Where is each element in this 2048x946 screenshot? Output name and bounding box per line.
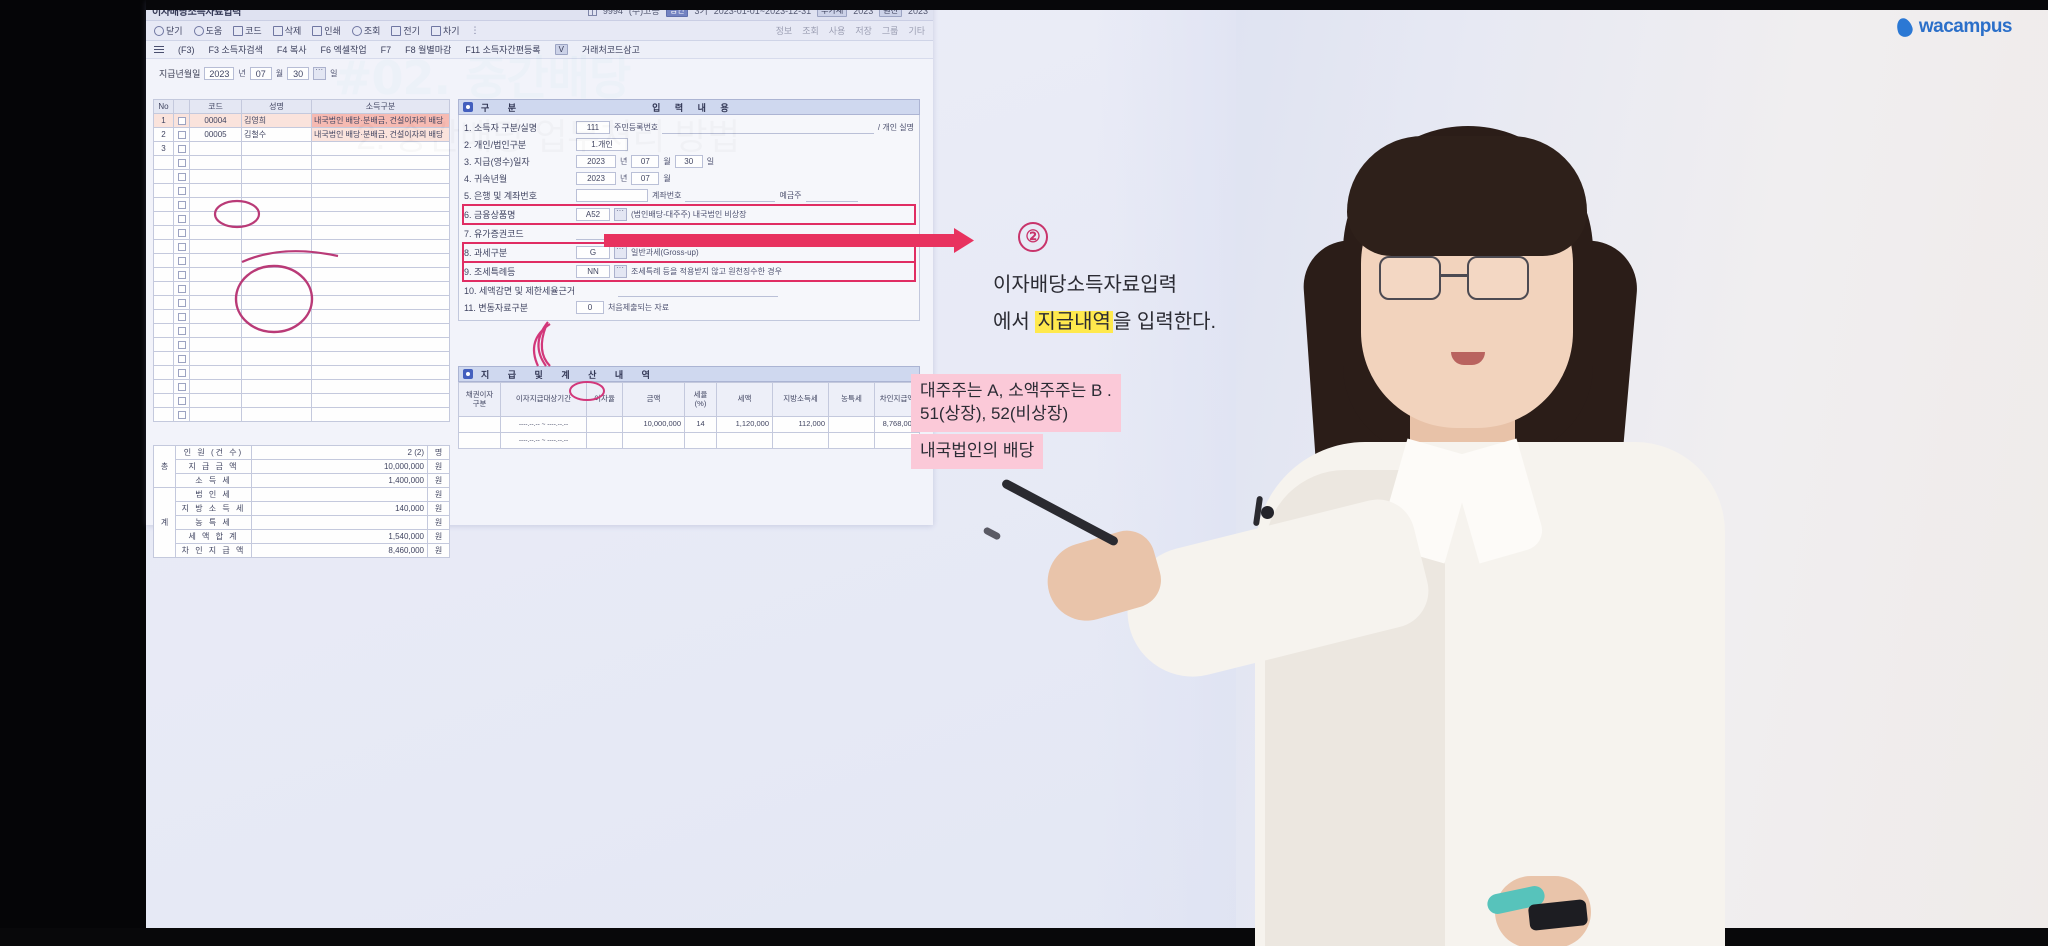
menu-item-f7[interactable]: F7 xyxy=(381,45,392,55)
th-tax-rate: 세율 (%) xyxy=(685,383,717,417)
payment-month-input[interactable]: 07 xyxy=(250,67,272,80)
form-row-person-corp: 2. 개인/법인구분 1.개인 xyxy=(464,136,914,153)
toolbar-right-item[interactable]: 기타 xyxy=(908,24,925,37)
toolbar-button-next[interactable]: 차기 xyxy=(431,24,460,37)
row-checkbox[interactable] xyxy=(178,383,186,391)
summary-group-total: 총 xyxy=(154,446,176,488)
detail-form-fields: 1. 소득자 구분/실명 111 주민등록번호 / 개인 실명 2. 개인/법인… xyxy=(458,115,920,321)
cell-bond-type xyxy=(459,417,501,433)
lookup-icon[interactable] xyxy=(614,208,627,221)
account-number-input[interactable] xyxy=(685,189,775,202)
table-row-empty[interactable] xyxy=(154,352,450,366)
calc-section-header: 지 급 및 계 산 내 역 xyxy=(458,366,920,382)
table-row-empty[interactable] xyxy=(154,156,450,170)
tax-reduction-basis-input[interactable] xyxy=(618,284,778,297)
income-earner-table: No 코드 성명 소득구분 1 00004 xyxy=(153,99,450,422)
table-header-row: No 코드 성명 소득구분 xyxy=(154,100,450,114)
table-row[interactable]: 2 00005 김철수 내국법인 배당·분배금, 건설이자의 배당 xyxy=(154,128,450,142)
attr-month-unit: 월 xyxy=(663,173,670,184)
person-corp-input[interactable]: 1.개인 xyxy=(576,138,628,151)
row-checkbox[interactable] xyxy=(178,411,186,419)
menu-item-partner-code[interactable]: 거래처코드삼고 xyxy=(582,43,640,56)
table-row[interactable]: 3 xyxy=(154,142,450,156)
menu-f3-key: (F3) xyxy=(178,45,195,55)
cell-no: 1 xyxy=(154,114,174,128)
account-holder-input[interactable] xyxy=(806,189,858,202)
row-label: 과세구분 xyxy=(474,248,507,258)
detail-col-header-left: 구 분 xyxy=(481,101,524,114)
row-checkbox[interactable] xyxy=(178,397,186,405)
calendar-icon[interactable] xyxy=(313,67,326,80)
summary-unit: 명 xyxy=(428,446,450,460)
account-holder-label: 예금주 xyxy=(779,190,801,201)
row-label: 변동자료구분 xyxy=(478,303,528,313)
table-row-empty[interactable] xyxy=(154,226,450,240)
row-checkbox[interactable] xyxy=(178,117,186,125)
table-row[interactable]: 1 00004 김영희 내국법인 배당·분배금, 건설이자의 배당 xyxy=(154,114,450,128)
th-no: No xyxy=(154,100,174,114)
financial-product-desc: (법인배당-대주주) 내국법인 비상장 xyxy=(631,209,746,220)
cell-amount: 10,000,000 xyxy=(623,417,685,433)
form-label: 3. 지급(영수)일자 xyxy=(464,155,572,168)
row-checkbox[interactable] xyxy=(178,313,186,321)
securities-code-input[interactable] xyxy=(576,227,696,240)
row-no: 1 xyxy=(464,123,469,133)
table-row-empty[interactable] xyxy=(154,338,450,352)
th-interest-rate: 이자율 xyxy=(587,383,623,417)
summary-group-sum: 계 xyxy=(154,488,176,558)
summary-label: 지 방 소 득 세 xyxy=(176,502,252,516)
row-label: 귀속년월 xyxy=(474,174,507,184)
top-black-bar xyxy=(146,0,2048,10)
form-label: 5. 은행 및 계좌번호 xyxy=(464,189,572,202)
toolbar-button-search[interactable]: 조회 xyxy=(352,24,381,37)
row-label: 개인/법인구분 xyxy=(474,140,526,150)
payment-date-row: 지급년월일 2023 년 07 월 30 일 xyxy=(159,67,926,80)
note-line-1: 이자배당소득자료입력 xyxy=(993,268,1177,297)
cell-name: 김철수 xyxy=(242,128,312,142)
row-no: 3 xyxy=(464,157,469,167)
glasses-left-lens xyxy=(1379,256,1441,300)
toolbar-right-item[interactable]: 조회 xyxy=(802,24,819,37)
toolbar-label: 삭제 xyxy=(285,24,302,37)
cell-tax-rate: 14 xyxy=(685,417,717,433)
note-line-2: 에서 지급내역을 입력한다. xyxy=(993,305,1216,334)
pay-day-unit: 일 xyxy=(707,156,714,167)
cell-tax xyxy=(717,433,773,449)
row-checkbox[interactable] xyxy=(178,285,186,293)
toolbar-button-print[interactable]: 인쇄 xyxy=(312,24,341,37)
row-checkbox[interactable] xyxy=(178,187,186,195)
form-row-tax-reduction-basis: 10. 세액감면 및 제한세율근거 xyxy=(464,282,914,299)
toolbar-overflow-icon[interactable]: ⋮ xyxy=(471,25,479,36)
cell-income-type: 내국법인 배당·분배금, 건설이자의 배당 xyxy=(312,114,450,128)
form-row-bank-account: 5. 은행 및 계좌번호 계좌번호 예금주 xyxy=(464,187,914,204)
summary-row: 계 법 인 세 원 xyxy=(154,488,450,502)
cell-period: ----.--.-- ~ ----.--.-- xyxy=(501,433,587,449)
search-icon xyxy=(352,26,362,36)
th-tax: 세액 xyxy=(717,383,773,417)
attr-year-input[interactable]: 2023 xyxy=(576,172,616,185)
pay-year-input[interactable]: 2023 xyxy=(576,155,616,168)
detail-col-header-right: 입 력 내 용 xyxy=(652,101,735,114)
pink-note-1-line-2: 51(상장), 52(비상장) xyxy=(920,403,1112,426)
toolbar-label: 전기 xyxy=(403,24,420,37)
form-label: 6. 금융상품명 xyxy=(464,208,572,221)
row-checkbox[interactable] xyxy=(178,257,186,265)
cell-period: ----.--.-- ~ ----.--.-- xyxy=(501,417,587,433)
income-type-desc: 주민등록번호 xyxy=(614,122,658,133)
table-row-empty[interactable] xyxy=(154,324,450,338)
th-amount: 금액 xyxy=(623,383,685,417)
summary-label: 차 인 지 급 액 xyxy=(176,544,252,558)
row-no: 11 xyxy=(464,303,473,313)
cell-name: 김영희 xyxy=(242,114,312,128)
summary-label: 법 인 세 xyxy=(176,488,252,502)
form-label: 2. 개인/법인구분 xyxy=(464,138,572,151)
financial-product-code-input[interactable]: A52 xyxy=(576,208,610,221)
th-check xyxy=(174,100,190,114)
form-row-change-category: 11. 변동자료구분 0 처음제출되는 자료 xyxy=(464,299,914,316)
account-number-label: 계좌번호 xyxy=(652,190,681,201)
erp-body: 지급년월일 2023 년 07 월 30 일 No xyxy=(146,59,933,525)
attr-year-unit: 년 xyxy=(620,173,627,184)
table-row-empty[interactable] xyxy=(154,184,450,198)
toolbar-label: 코드 xyxy=(245,24,262,37)
toolbar-right-item[interactable]: 그룹 xyxy=(882,24,899,37)
table-row-empty[interactable] xyxy=(154,170,450,184)
table-row-empty[interactable] xyxy=(154,394,450,408)
pay-year-unit: 년 xyxy=(620,156,627,167)
th-farm-tax: 농특세 xyxy=(829,383,875,417)
erp-menubar: (F3) F3 소득자검색 F4 복사 F6 엑셀작업 F7 F8 월별마감 F… xyxy=(146,41,933,59)
tax-category-desc: 일반과세(Gross-up) xyxy=(631,247,699,258)
summary-row: 지 방 소 득 세 140,000 원 xyxy=(154,502,450,516)
toolbar-right-item[interactable]: 저장 xyxy=(855,24,872,37)
pay-month-unit: 월 xyxy=(663,156,670,167)
menu-v-badge: V xyxy=(555,44,568,55)
summary-unit: 원 xyxy=(428,474,450,488)
left-black-border xyxy=(0,0,146,946)
menu-item-excel[interactable]: F6 엑셀작업 xyxy=(320,43,366,56)
summary-label: 소 득 세 xyxy=(176,474,252,488)
summary-unit: 원 xyxy=(428,502,450,516)
menu-item-monthly-close[interactable]: F8 월별마감 xyxy=(405,43,451,56)
summary-label: 지 급 금 액 xyxy=(176,460,252,474)
cell-check[interactable] xyxy=(174,128,190,142)
table-row-empty[interactable] xyxy=(154,296,450,310)
toolbar-label: 도움 xyxy=(206,24,223,37)
lookup-icon[interactable] xyxy=(614,246,627,259)
cell-tax-rate xyxy=(685,433,717,449)
form-row-tax-special: 9. 조세특례등 NN 조세특례 등을 적용받지 않고 원천징수한 경우 xyxy=(464,263,914,280)
row-label: 조세특례등 xyxy=(474,267,515,277)
erp-window: 이자배당소득자료입력 9994 (주)고승 법인 3기 2023-01-01~2… xyxy=(146,0,933,525)
water-drop-icon xyxy=(1894,16,1914,39)
payment-day-unit: 일 xyxy=(330,68,337,79)
cell-rate xyxy=(587,417,623,433)
calc-row[interactable]: ----.--.-- ~ ----.--.-- xyxy=(459,433,920,449)
screen-stage: #02. 중간배당 2. 중간배당 업무처리 방법 이자배당소득자료입력 999… xyxy=(0,0,2048,946)
form-label: 9. 조세특례등 xyxy=(464,265,572,278)
payment-day-input[interactable]: 30 xyxy=(287,67,309,80)
step-number-annotation: ② xyxy=(1018,222,1048,252)
row-no: 6 xyxy=(464,210,469,220)
microphone-icon xyxy=(1261,506,1274,519)
menu-item-copy[interactable]: F4 복사 xyxy=(277,43,307,56)
cell-code: 00005 xyxy=(190,128,242,142)
form-row-tax-category: 8. 과세구분 G 일반과세(Gross-up) xyxy=(464,244,914,261)
row-checkbox[interactable] xyxy=(178,131,186,139)
row-checkbox[interactable] xyxy=(178,201,186,209)
note-highlight: 지급내역 xyxy=(1035,311,1113,333)
lookup-icon[interactable] xyxy=(614,265,627,278)
cell-check[interactable] xyxy=(174,114,190,128)
tax-category-code-input[interactable]: G xyxy=(576,246,610,259)
summary-value xyxy=(252,488,428,502)
projection-board: #02. 중간배당 2. 중간배당 업무처리 방법 이자배당소득자료입력 999… xyxy=(146,0,1236,946)
printer-icon xyxy=(312,26,322,36)
ink-arrow-head xyxy=(954,228,974,253)
row-checkbox[interactable] xyxy=(178,271,186,279)
calc-section-panel: 지 급 및 계 산 내 역 채권이자 구분 이자지급대상기간 이자율 xyxy=(458,366,920,449)
th-income-type: 소득구분 xyxy=(312,100,450,114)
form-label: 7. 유가증권코드 xyxy=(464,227,572,240)
help-icon xyxy=(194,26,204,36)
summary-row: 소 득 세 1,400,000 원 xyxy=(154,474,450,488)
summary-label: 인 원 (건 수) xyxy=(176,446,252,460)
summary-row: 농 특 세 원 xyxy=(154,516,450,530)
calc-table: 채권이자 구분 이자지급대상기간 이자율 금액 세율 (%) 세액 지방소득세 … xyxy=(458,382,920,449)
summary-value: 8,460,000 xyxy=(252,544,428,558)
toolbar-right-group: 정보 조회 사용 저장 그룹 기타 xyxy=(776,24,925,37)
row-checkbox[interactable] xyxy=(178,145,186,153)
row-checkbox[interactable] xyxy=(178,159,186,167)
table-row-empty[interactable] xyxy=(154,268,450,282)
income-earner-grid-panel: No 코드 성명 소득구분 1 00004 xyxy=(153,99,450,422)
form-label: 1. 소득자 구분/실명 xyxy=(464,121,572,134)
summary-panel: 총 인 원 (건 수) 2 (2) 명 지 급 금 액 10,000,000 원 xyxy=(153,445,450,558)
form-row-attribution-date: 4. 귀속년월 2023 년 07 월 xyxy=(464,170,914,187)
summary-unit: 원 xyxy=(428,488,450,502)
summary-label: 세 액 합 계 xyxy=(176,530,252,544)
summary-row: 세 액 합 계 1,540,000 원 xyxy=(154,530,450,544)
form-label: 11. 변동자료구분 xyxy=(464,301,572,314)
glasses-right-lens xyxy=(1467,256,1529,300)
table-row-empty[interactable] xyxy=(154,282,450,296)
table-row-empty[interactable] xyxy=(154,198,450,212)
pink-note-1-line-1: 대주주는 A, 소액주주는 B . xyxy=(920,380,1112,403)
bank-input[interactable] xyxy=(576,189,648,202)
row-label: 세액감면 및 제한세율근거 xyxy=(479,286,575,296)
row-no: 5 xyxy=(464,191,469,201)
menu-item-simple-register[interactable]: F11 소득자간편등록 xyxy=(465,43,540,56)
cell-name xyxy=(242,142,312,156)
toolbar-button-help[interactable]: 도움 xyxy=(194,24,223,37)
resident-number-input[interactable] xyxy=(662,121,874,134)
summary-unit: 원 xyxy=(428,460,450,474)
next-icon xyxy=(431,26,441,36)
detail-form-panel: 구 분 입 력 내 용 1. 소득자 구분/실명 111 주민등록번호 / 개인… xyxy=(458,99,920,321)
erp-toolbar: 닫기 도움 코드 삭제 인쇄 조회 전기 차기 ⋮ 정보 조회 사용 저장 그룹… xyxy=(146,21,933,41)
toolbar-button-delete[interactable]: 삭제 xyxy=(273,24,302,37)
th-bond-interest-type: 채권이자 구분 xyxy=(459,383,501,417)
row-label: 소득자 구분/실명 xyxy=(474,123,537,133)
form-label: 4. 귀속년월 xyxy=(464,172,572,185)
row-no: 8 xyxy=(464,248,469,258)
pink-note-2: 내국법인의 배당 xyxy=(911,434,1043,469)
row-checkbox[interactable] xyxy=(178,341,186,349)
row-checkbox[interactable] xyxy=(178,369,186,377)
summary-unit: 원 xyxy=(428,516,450,530)
summary-unit: 원 xyxy=(428,544,450,558)
form-label: 10. 세액감면 및 제한세율근거 xyxy=(464,284,614,297)
row-checkbox[interactable] xyxy=(178,299,186,307)
summary-value: 10,000,000 xyxy=(252,460,428,474)
toolbar-label: 조회 xyxy=(364,24,381,37)
row-checkbox[interactable] xyxy=(178,243,186,251)
summary-value: 1,540,000 xyxy=(252,530,428,544)
trash-icon xyxy=(273,26,283,36)
toolbar-button-prev[interactable]: 전기 xyxy=(391,24,420,37)
toolbar-button-close[interactable]: 닫기 xyxy=(154,24,183,37)
cell-code: 00004 xyxy=(190,114,242,128)
form-row-income-type: 1. 소득자 구분/실명 111 주민등록번호 / 개인 실명 xyxy=(464,119,914,136)
brand-logo: wacampus xyxy=(1897,16,2012,38)
table-row-empty[interactable] xyxy=(154,254,450,268)
toolbar-right-item[interactable]: 사용 xyxy=(829,24,846,37)
cell-local-tax xyxy=(773,433,829,449)
pay-day-input[interactable]: 30 xyxy=(675,155,703,168)
menu-icon[interactable] xyxy=(154,44,164,54)
cell-local-tax: 112,000 xyxy=(773,417,829,433)
row-no: 4 xyxy=(464,174,469,184)
form-label: 8. 과세구분 xyxy=(464,246,572,259)
cell-no: 2 xyxy=(154,128,174,142)
summary-value: 1,400,000 xyxy=(252,474,428,488)
detail-section-header: 구 분 입 력 내 용 xyxy=(458,99,920,115)
summary-row: 차 인 지 급 액 8,460,000 원 xyxy=(154,544,450,558)
table-row-empty[interactable] xyxy=(154,310,450,324)
row-no: 7 xyxy=(464,229,469,239)
tax-special-code-input[interactable]: NN xyxy=(576,265,610,278)
tax-special-desc: 조세특례 등을 적용받지 않고 원천징수한 경우 xyxy=(631,266,782,277)
cell-farm-tax xyxy=(829,417,875,433)
table-row-empty[interactable] xyxy=(154,366,450,380)
row-label: 은행 및 계좌번호 xyxy=(474,191,537,201)
table-row-empty[interactable] xyxy=(154,212,450,226)
toolbar-label: 닫기 xyxy=(166,24,183,37)
row-no: 9 xyxy=(464,267,469,277)
cell-bond-type xyxy=(459,433,501,449)
calc-header-row: 채권이자 구분 이자지급대상기간 이자율 금액 세율 (%) 세액 지방소득세 … xyxy=(459,383,920,417)
cell-check[interactable] xyxy=(174,142,190,156)
row-label: 유가증권코드 xyxy=(474,229,524,239)
cell-farm-tax xyxy=(829,433,875,449)
summary-value: 140,000 xyxy=(252,502,428,516)
th-local-tax: 지방소득세 xyxy=(773,383,829,417)
table-row-empty[interactable] xyxy=(154,380,450,394)
summary-table: 총 인 원 (건 수) 2 (2) 명 지 급 금 액 10,000,000 원 xyxy=(153,445,450,558)
toolbar-right-item[interactable]: 정보 xyxy=(776,24,793,37)
summary-value: 2 (2) xyxy=(252,446,428,460)
cell-amount xyxy=(623,433,685,449)
close-icon xyxy=(154,26,164,36)
calc-section-title: 지 급 및 계 산 내 역 xyxy=(481,368,658,381)
cell-income-type xyxy=(312,142,450,156)
summary-unit: 원 xyxy=(428,530,450,544)
toolbar-label: 인쇄 xyxy=(324,24,341,37)
row-checkbox[interactable] xyxy=(178,215,186,223)
calc-row[interactable]: ----.--.-- ~ ----.--.-- 10,000,000 14 1,… xyxy=(459,417,920,433)
row-label: 지급(영수)일자 xyxy=(474,157,530,167)
toolbar-button-code[interactable]: 코드 xyxy=(233,24,262,37)
payment-year-input[interactable]: 2023 xyxy=(204,67,234,80)
th-code: 코드 xyxy=(190,100,242,114)
payment-month-unit: 월 xyxy=(276,68,283,79)
code-icon xyxy=(233,26,243,36)
table-row-empty[interactable] xyxy=(154,408,450,422)
record-icon xyxy=(463,102,473,112)
cell-no: 3 xyxy=(154,142,174,156)
row-no: 2 xyxy=(464,140,469,150)
pay-month-input[interactable]: 07 xyxy=(631,155,659,168)
brand-name: wacampus xyxy=(1919,16,2012,38)
menu-item-income-search[interactable]: F3 소득자검색 xyxy=(209,43,263,56)
cell-income-type: 내국법인 배당·분배금, 건설이자의 배당 xyxy=(312,128,450,142)
form-row-financial-product: 6. 금융상품명 A52 (법인배당-대주주) 내국법인 비상장 xyxy=(464,206,914,223)
attr-month-input[interactable]: 07 xyxy=(631,172,659,185)
summary-label: 농 특 세 xyxy=(176,516,252,530)
form-row-securities-code: 7. 유가증권코드 xyxy=(464,225,914,242)
change-category-code-input[interactable]: 0 xyxy=(576,301,604,314)
row-checkbox[interactable] xyxy=(178,173,186,181)
presenter-figure xyxy=(1195,90,1755,946)
row-label: 금융상품명 xyxy=(474,210,515,220)
toolbar-label: 차기 xyxy=(443,24,460,37)
row-checkbox[interactable] xyxy=(178,229,186,237)
hair-fringe xyxy=(1347,136,1587,256)
summary-row: 총 인 원 (건 수) 2 (2) 명 xyxy=(154,446,450,460)
cell-rate xyxy=(587,433,623,449)
th-interest-period: 이자지급대상기간 xyxy=(501,383,587,417)
income-earner-table-body: 1 00004 김영희 내국법인 배당·분배금, 건설이자의 배당 2 0000… xyxy=(154,114,450,422)
row-checkbox[interactable] xyxy=(178,327,186,335)
summary-row: 지 급 금 액 10,000,000 원 xyxy=(154,460,450,474)
cell-code xyxy=(190,142,242,156)
cell-tax: 1,120,000 xyxy=(717,417,773,433)
income-type-tail: / 개인 실명 xyxy=(878,122,914,133)
glasses-bridge xyxy=(1441,274,1467,277)
note-prefix: 에서 xyxy=(993,311,1035,333)
payment-date-label: 지급년월일 xyxy=(159,67,200,80)
income-type-code-input[interactable]: 111 xyxy=(576,121,610,134)
pink-note-1: 대주주는 A, 소액주주는 B . 51(상장), 52(비상장) xyxy=(911,374,1121,432)
record-icon xyxy=(463,369,473,379)
payment-year-unit: 년 xyxy=(238,68,245,79)
prev-icon xyxy=(391,26,401,36)
form-row-payment-date: 3. 지급(영수)일자 2023 년 07 월 30 일 xyxy=(464,153,914,170)
th-name: 성명 xyxy=(242,100,312,114)
change-category-desc: 처음제출되는 자료 xyxy=(608,302,669,313)
row-checkbox[interactable] xyxy=(178,355,186,363)
row-no: 10 xyxy=(464,286,474,296)
summary-value xyxy=(252,516,428,530)
table-row-empty[interactable] xyxy=(154,240,450,254)
